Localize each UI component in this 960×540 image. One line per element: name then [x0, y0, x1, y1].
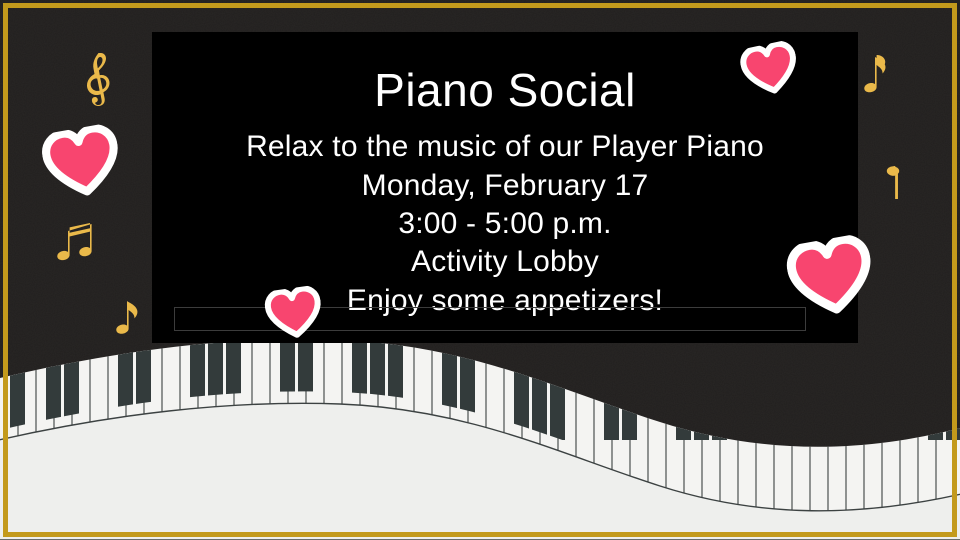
quarter-note-icon — [884, 165, 904, 201]
event-detail-line: 3:00 - 5:00 p.m. — [246, 205, 764, 243]
beamed-eighth-notes-icon — [54, 222, 98, 262]
slide-canvas: Piano Social Relax to the music of our P… — [0, 0, 960, 540]
sixteenth-note-icon — [862, 55, 890, 97]
event-details: Relax to the music of our Player Piano M… — [246, 128, 764, 320]
eighth-note-icon — [115, 298, 141, 336]
treble-clef-icon — [84, 52, 112, 106]
event-detail-line: Activity Lobby — [246, 243, 764, 281]
piano-keyboard-wave — [0, 330, 960, 540]
event-detail-line: Monday, February 17 — [246, 167, 764, 205]
page-title: Piano Social — [374, 66, 636, 114]
heart-icon — [783, 232, 879, 320]
event-detail-line: Relax to the music of our Player Piano — [246, 128, 764, 166]
heart-icon — [263, 284, 325, 341]
heart-icon — [39, 122, 126, 202]
